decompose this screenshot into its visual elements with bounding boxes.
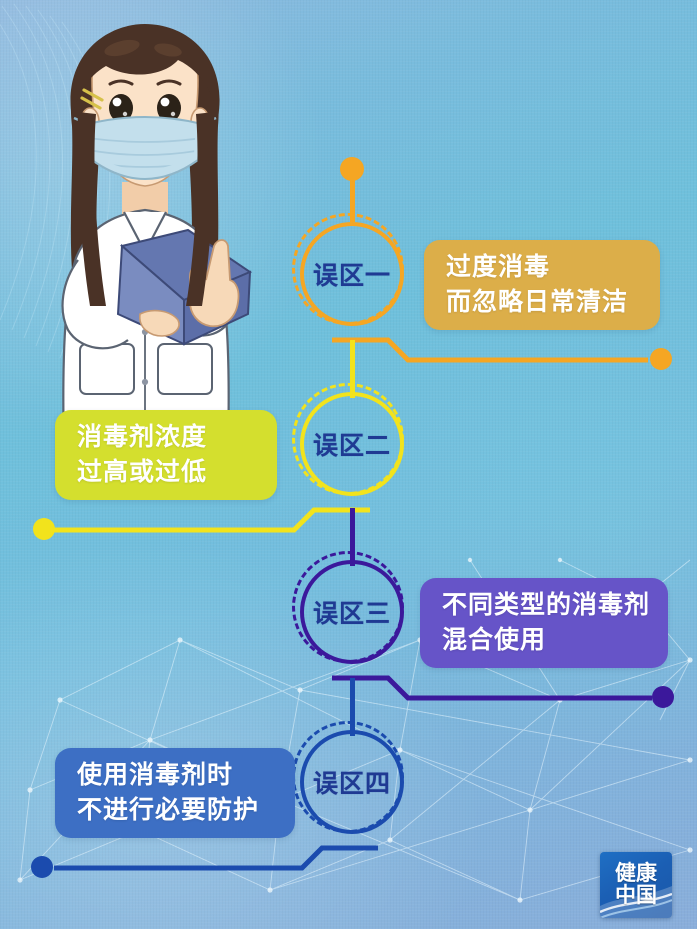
- connector-3: [330, 668, 670, 708]
- timeline: 误区一 过度消毒 而忽略日常清洁 误区二 消毒剂浓度 过高或过低: [0, 0, 697, 929]
- connector-4-end-dot: [31, 856, 53, 878]
- node-1[interactable]: 误区一: [300, 222, 404, 326]
- connector-4: [40, 838, 380, 878]
- banner-4-line-2: 不进行必要防护: [77, 793, 259, 829]
- banner-2-line-1: 消毒剂浓度: [77, 420, 207, 456]
- banner-2[interactable]: 消毒剂浓度 过高或过低: [55, 410, 277, 500]
- banner-3-line-2: 混合使用: [442, 623, 546, 659]
- node-3-label: 误区三: [313, 594, 391, 630]
- node-2[interactable]: 误区二: [300, 392, 404, 496]
- connector-1-end-dot: [650, 348, 672, 370]
- connector-1: [330, 330, 670, 370]
- banner-1-line-2: 而忽略日常清洁: [446, 285, 628, 321]
- banner-4-line-1: 使用消毒剂时: [77, 758, 233, 794]
- node-4-stem: [350, 678, 355, 736]
- timeline-start-stem: [350, 176, 355, 222]
- node-3[interactable]: 误区三: [300, 560, 404, 664]
- logo-line-2: 中国: [615, 885, 657, 907]
- poster-root: 误区一 过度消毒 而忽略日常清洁 误区二 消毒剂浓度 过高或过低: [0, 0, 697, 929]
- logo-line-1: 健康: [615, 863, 657, 885]
- connector-2-end-dot: [33, 518, 55, 540]
- node-3-stem: [350, 508, 355, 566]
- healthy-china-logo: 健康 中国: [600, 852, 672, 918]
- banner-2-line-2: 过高或过低: [77, 455, 207, 491]
- node-4-label: 误区四: [313, 764, 391, 800]
- node-2-stem: [350, 340, 355, 398]
- node-1-label: 误区一: [313, 256, 391, 292]
- banner-1[interactable]: 过度消毒 而忽略日常清洁: [424, 240, 660, 330]
- connector-2: [42, 500, 372, 540]
- banner-3-line-1: 不同类型的消毒剂: [442, 588, 650, 624]
- banner-1-line-1: 过度消毒: [446, 250, 550, 286]
- node-2-label: 误区二: [313, 426, 391, 462]
- connector-3-end-dot: [652, 686, 674, 708]
- banner-4[interactable]: 使用消毒剂时 不进行必要防护: [55, 748, 295, 838]
- banner-3[interactable]: 不同类型的消毒剂 混合使用: [420, 578, 668, 668]
- node-4[interactable]: 误区四: [300, 730, 404, 834]
- logo-text: 健康 中国: [600, 852, 672, 918]
